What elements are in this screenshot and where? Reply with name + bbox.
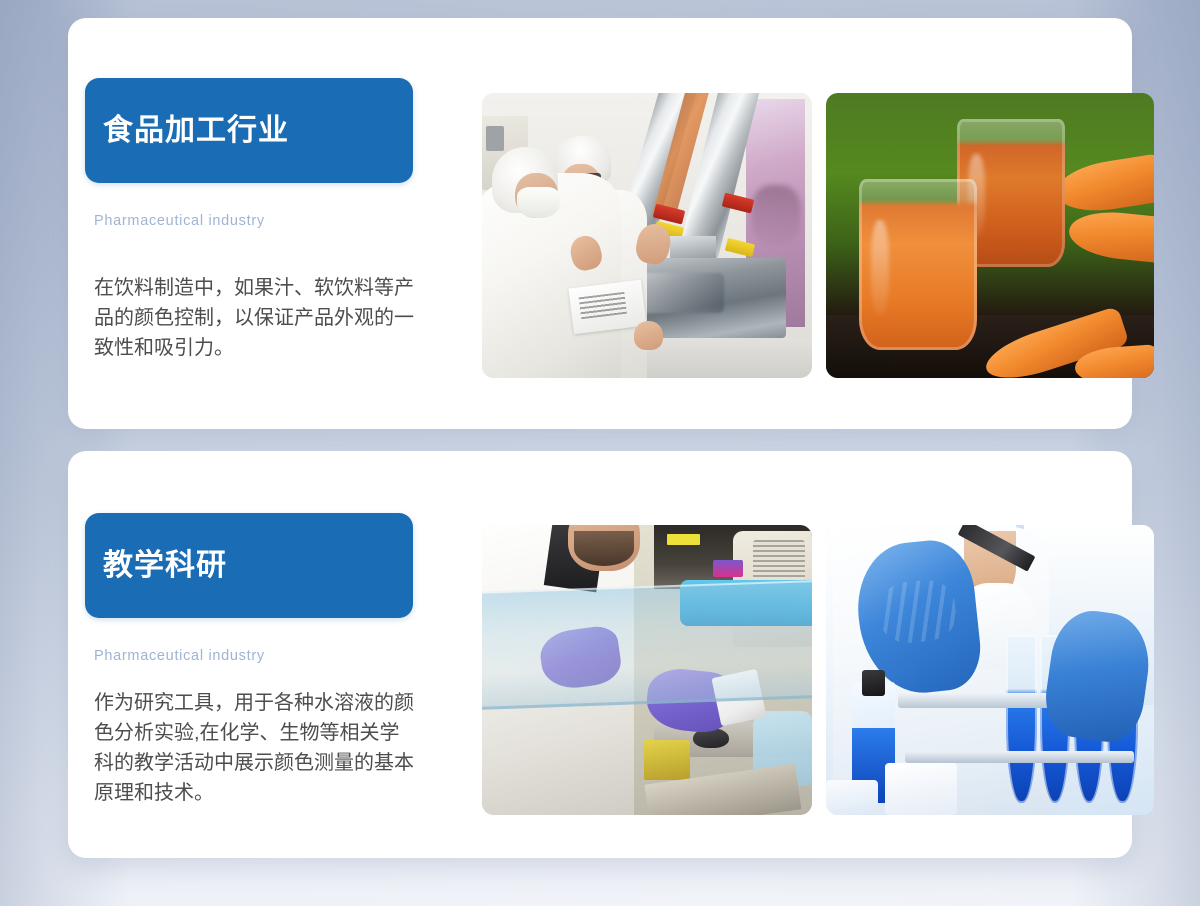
card-text-column: 食品加工行业 Pharmaceutical industry 在饮料制造中，如果… [85, 78, 425, 383]
card-title: 食品加工行业 [103, 114, 289, 147]
photo-sample-vial [826, 780, 878, 815]
card-title-badge[interactable]: 食品加工行业 [85, 78, 413, 183]
card-body-text: 在饮料制造中，如果汁、软饮料等产品的颜色控制，以保证产品外观的一致性和吸引力。 [94, 273, 416, 363]
photo-vent-grille [753, 540, 806, 581]
photo-test-tube [1006, 635, 1036, 803]
card-title-badge[interactable]: 教学科研 [85, 513, 413, 618]
photo-document [569, 280, 647, 334]
photo-sample-vial [885, 763, 957, 815]
photo-bench-items [644, 740, 690, 781]
photo-face-mask [517, 187, 560, 218]
industry-card-teaching-research: 教学科研 Pharmaceutical industry 作为研究工具，用于各种… [68, 451, 1132, 858]
photo-hand [634, 321, 664, 350]
photo-tube-rack-bottom [905, 751, 1135, 763]
card-subtitle: Pharmaceutical industry [94, 213, 425, 229]
industry-card-food-processing: 食品加工行业 Pharmaceutical industry 在饮料制造中，如果… [68, 18, 1132, 429]
carrot-juice-photo [826, 93, 1154, 378]
photo-beard [574, 531, 633, 566]
food-processing-plant-photo [482, 93, 812, 378]
page-root: 食品加工行业 Pharmaceutical industry 在饮料制造中，如果… [0, 0, 1200, 906]
photo-dropper-cap [862, 670, 885, 696]
laboratory-fumehood-photo [482, 525, 812, 815]
photo-reagent-box [713, 560, 743, 577]
photo-yellow-label [667, 534, 700, 546]
photo-juice-glass-front [859, 179, 977, 350]
card-body-text: 作为研究工具，用于各种水溶液的颜色分析实验,在化学、生物等相关学科的教学活动中展… [94, 688, 416, 808]
test-tubes-photo [826, 525, 1154, 815]
photo-glass-sash [482, 580, 812, 710]
card-text-column: 教学科研 Pharmaceutical industry 作为研究工具，用于各种… [85, 513, 425, 828]
card-subtitle: Pharmaceutical industry [94, 648, 425, 664]
card-title: 教学科研 [103, 549, 227, 582]
